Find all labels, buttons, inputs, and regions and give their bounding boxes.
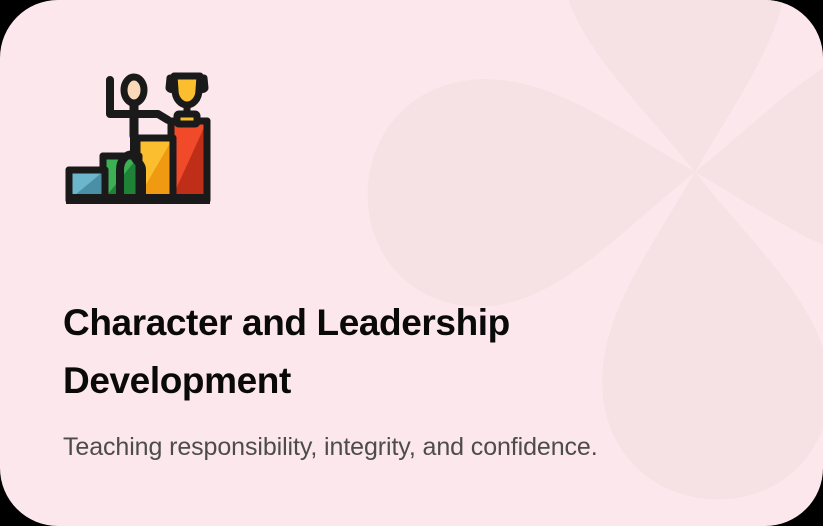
achievement-growth-icon [60, 58, 212, 210]
card-subtitle: Teaching responsibility, integrity, and … [63, 431, 683, 464]
trophy-icon [169, 76, 205, 124]
figure-right-arm [134, 114, 168, 120]
card-text-block: Character and Leadership Development Tea… [63, 294, 683, 464]
figure-head [124, 77, 144, 103]
feature-card[interactable]: Character and Leadership Development Tea… [0, 0, 823, 526]
page-title: Character and Leadership Development [63, 294, 683, 409]
